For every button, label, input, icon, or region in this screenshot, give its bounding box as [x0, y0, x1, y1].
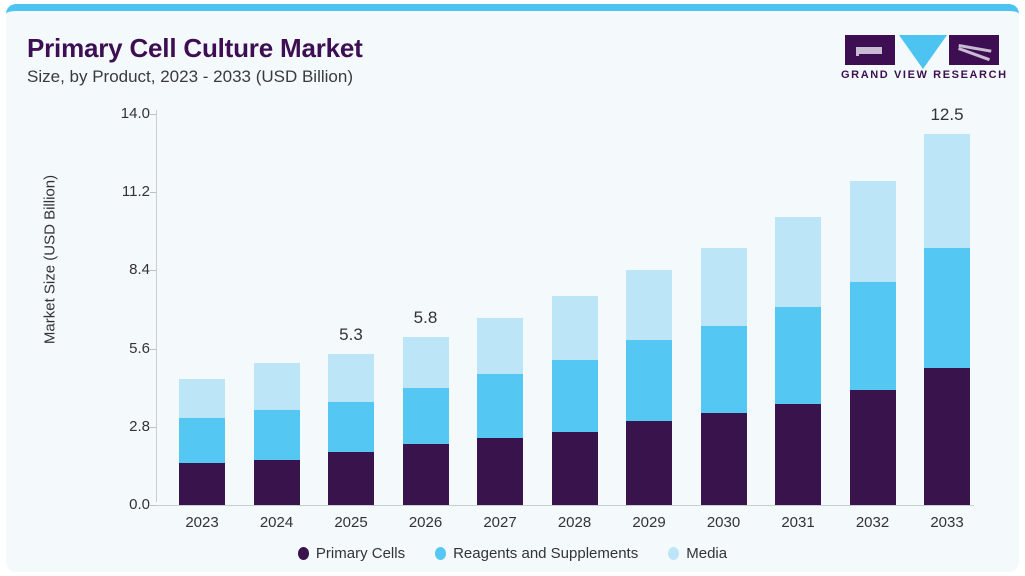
bar-value-label: 5.3: [316, 325, 386, 345]
bar-segment[interactable]: [254, 460, 300, 505]
y-axis-tick-mark: [150, 114, 156, 115]
legend-color-swatch-icon: [435, 547, 446, 560]
bar-segment[interactable]: [701, 248, 747, 326]
bar-segment[interactable]: [775, 404, 821, 505]
bar-segment[interactable]: [701, 326, 747, 413]
legend-item[interactable]: Reagents and Supplements: [435, 545, 638, 562]
bar-segment[interactable]: [626, 340, 672, 421]
legend-item[interactable]: Media: [668, 545, 727, 562]
x-axis-line: [150, 505, 974, 506]
y-axis-tick-text: 0.0: [104, 496, 150, 513]
bar-stack[interactable]: [552, 11, 598, 505]
y-axis-tick-mark: [150, 192, 156, 193]
x-axis-tick-label: 2026: [391, 514, 461, 531]
bar-segment[interactable]: [552, 360, 598, 433]
x-axis-tick-label: 2032: [838, 514, 908, 531]
bar-stack[interactable]: [179, 11, 225, 505]
bar-segment[interactable]: [477, 318, 523, 374]
bar-segment[interactable]: [924, 368, 970, 505]
y-axis-tick-mark: [150, 349, 156, 350]
bar-segment[interactable]: [403, 388, 449, 444]
bar-segment[interactable]: [701, 413, 747, 505]
chart-card: Primary Cell Culture Market Size, by Pro…: [6, 4, 1019, 572]
bar-segment[interactable]: [924, 248, 970, 368]
x-axis-tick-label: 2029: [614, 514, 684, 531]
legend-color-swatch-icon: [298, 547, 309, 560]
bar-segment[interactable]: [552, 296, 598, 360]
bar-segment[interactable]: [328, 354, 374, 401]
bar-stack[interactable]: [328, 11, 374, 505]
bar-segment[interactable]: [477, 438, 523, 505]
x-axis-tick-label: 2031: [763, 514, 833, 531]
y-axis-tick-text: 5.6: [104, 340, 150, 357]
bar-stack[interactable]: [254, 11, 300, 505]
bar-segment[interactable]: [850, 282, 896, 391]
bar-segment[interactable]: [179, 379, 225, 418]
bar-segment[interactable]: [477, 374, 523, 438]
bar-stack[interactable]: [924, 11, 970, 505]
y-axis-tick-text: 14.0: [104, 105, 150, 122]
bar-value-label: 12.5: [912, 105, 982, 125]
bar-segment[interactable]: [179, 418, 225, 463]
bar-segment[interactable]: [328, 402, 374, 452]
bar-segment[interactable]: [254, 363, 300, 410]
bar-segment[interactable]: [775, 307, 821, 405]
chart-plot-area: Market Size (USD Billion) 0.02.85.68.411…: [6, 11, 1019, 572]
x-axis-tick-label: 2027: [465, 514, 535, 531]
x-axis-tick-label: 2030: [689, 514, 759, 531]
bar-stack[interactable]: [701, 11, 747, 505]
bar-segment[interactable]: [254, 410, 300, 460]
bar-segment[interactable]: [850, 390, 896, 505]
y-axis-tick-text: 8.4: [104, 261, 150, 278]
bar-segment[interactable]: [626, 270, 672, 340]
bar-segment[interactable]: [850, 181, 896, 282]
bar-segment[interactable]: [775, 217, 821, 306]
legend-item[interactable]: Primary Cells: [298, 545, 405, 562]
y-axis-tick-text: 11.2: [104, 183, 150, 200]
x-axis-tick-label: 2024: [242, 514, 312, 531]
bar-segment[interactable]: [403, 444, 449, 505]
bar-stack[interactable]: [403, 11, 449, 505]
bar-value-label: 5.8: [391, 308, 461, 328]
bar-segment[interactable]: [924, 134, 970, 249]
legend-label: Primary Cells: [316, 545, 405, 562]
y-axis-tick-mark: [150, 505, 156, 506]
y-axis-tick-mark: [150, 427, 156, 428]
bar-stack[interactable]: [626, 11, 672, 505]
chart-legend: Primary CellsReagents and SupplementsMed…: [6, 545, 1019, 562]
x-axis-tick-label: 2025: [316, 514, 386, 531]
legend-label: Media: [686, 545, 727, 562]
bar-stack[interactable]: [477, 11, 523, 505]
y-axis-tick-mark: [150, 270, 156, 271]
legend-color-swatch-icon: [668, 547, 679, 560]
x-axis-tick-label: 2033: [912, 514, 982, 531]
bar-segment[interactable]: [328, 452, 374, 505]
y-axis-title: Market Size (USD Billion): [42, 130, 59, 390]
bar-stack[interactable]: [775, 11, 821, 505]
bar-segment[interactable]: [403, 337, 449, 387]
bar-segment[interactable]: [179, 463, 225, 505]
legend-label: Reagents and Supplements: [453, 545, 638, 562]
y-axis-line: [156, 110, 157, 502]
y-axis-tick-text: 2.8: [104, 418, 150, 435]
x-axis-tick-label: 2028: [540, 514, 610, 531]
x-axis-tick-label: 2023: [167, 514, 237, 531]
bar-segment[interactable]: [626, 421, 672, 505]
bar-stack[interactable]: [850, 11, 896, 505]
bar-segment[interactable]: [552, 432, 598, 505]
